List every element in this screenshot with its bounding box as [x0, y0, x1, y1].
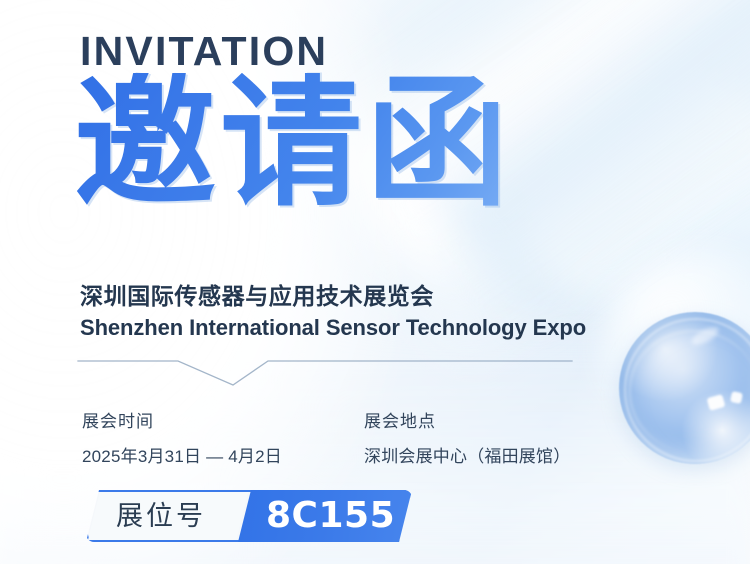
detail-value-time: 2025年3月31日 — 4月2日 [82, 442, 282, 467]
expo-name-english: Shenzhen International Sensor Technology… [80, 315, 586, 341]
detail-block-time: 展会时间 2025年3月31日 — 4月2日 [82, 407, 282, 467]
booth-number-badge: 展位号 8C155 [86, 490, 412, 542]
decorative-divider-line [70, 352, 580, 392]
invitation-poster: INVITATION 邀请函 邀请函 深圳国际传感器与应用技术展览会 Shenz… [0, 0, 750, 564]
expo-name-chinese: 深圳国际传感器与应用技术展览会 [80, 277, 434, 311]
detail-value-place: 深圳会展中心（福田展馆） [364, 442, 570, 467]
detail-block-place: 展会地点 深圳会展中心（福田展馆） [364, 407, 570, 467]
detail-label-place: 展会地点 [364, 407, 570, 432]
booth-badge-number: 8C155 [266, 496, 395, 536]
booth-badge-label: 展位号 [116, 501, 206, 531]
detail-label-time: 展会时间 [82, 407, 282, 432]
invitation-chinese-title: 邀请函 [74, 73, 512, 215]
